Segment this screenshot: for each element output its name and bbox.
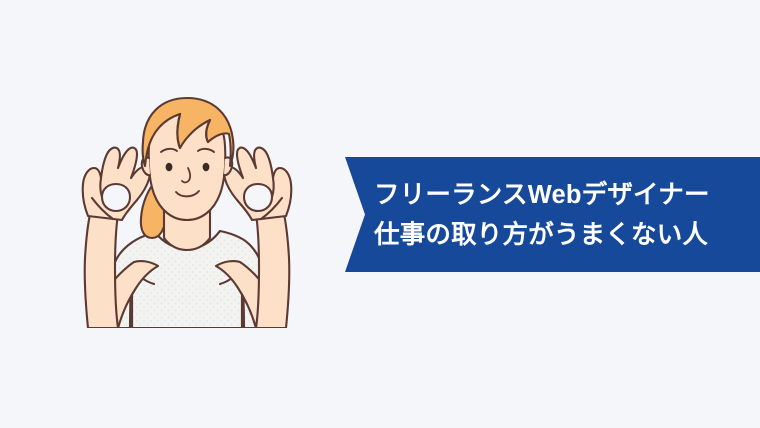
page-root: フリーランスWebデザイナー 仕事の取り方がうまくない人 (0, 0, 760, 428)
ribbon-line-1: フリーランスWebデザイナー (374, 175, 710, 215)
title-ribbon: フリーランスWebデザイナー 仕事の取り方がうまくない人 (345, 157, 760, 272)
illustration-svg (30, 88, 360, 333)
left-hand-ok-gesture (83, 148, 150, 220)
right-hand-ok-gesture (224, 148, 291, 220)
woman-making-ok-gesture-illustration (30, 88, 360, 333)
ribbon-line-2: 仕事の取り方がうまくない人 (374, 215, 708, 255)
ribbon-text-block: フリーランスWebデザイナー 仕事の取り方がうまくない人 (345, 157, 760, 272)
